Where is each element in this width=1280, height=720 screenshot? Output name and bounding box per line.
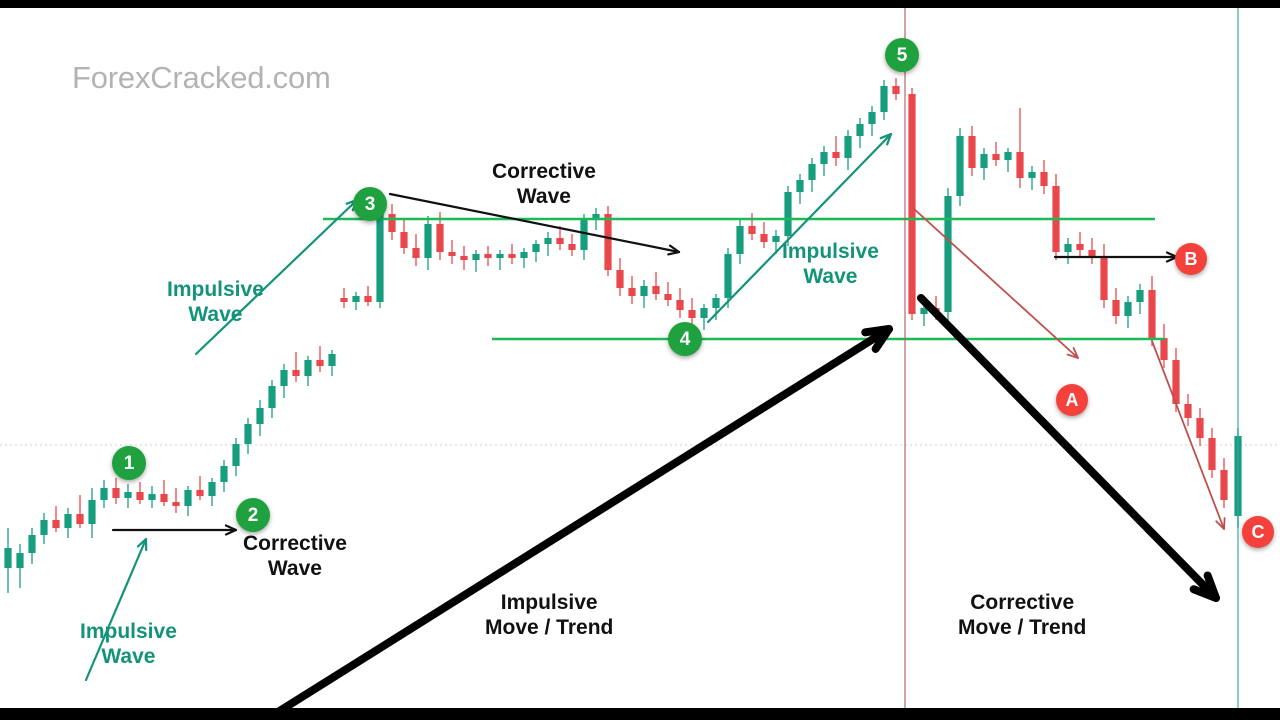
candle	[40, 513, 47, 544]
candle	[640, 280, 647, 308]
wave-c-arrow	[1152, 341, 1225, 529]
candle	[968, 126, 975, 176]
label-impulsive-move-trend: Impulsive Move / Trend	[485, 591, 613, 641]
candle	[328, 350, 335, 376]
candle	[1220, 458, 1227, 508]
candle	[856, 118, 863, 148]
candle	[760, 222, 767, 248]
candle	[908, 88, 915, 320]
candle	[544, 232, 551, 256]
candle	[520, 248, 527, 268]
candle	[1016, 108, 1023, 188]
candle	[604, 206, 611, 276]
candle	[1148, 276, 1155, 346]
candle	[956, 128, 963, 206]
wave-badge-5: 5	[885, 38, 919, 72]
candle	[568, 234, 575, 256]
wave-badge-1: 1	[112, 446, 146, 480]
wave-badge-4: 4	[668, 322, 702, 356]
candle	[700, 304, 707, 330]
candle	[1100, 244, 1107, 308]
candle	[88, 488, 95, 538]
candle	[1064, 238, 1071, 264]
candle	[892, 78, 899, 100]
candle	[1076, 232, 1083, 258]
candle	[376, 208, 383, 308]
candle	[16, 544, 23, 588]
candle	[1124, 296, 1131, 328]
corrective-trend-arrow	[921, 298, 1216, 598]
candle	[1052, 174, 1059, 260]
candle	[280, 364, 287, 398]
candle	[64, 508, 71, 538]
candle	[160, 480, 167, 506]
label-corrective-wave-1: Corrective Wave	[243, 532, 347, 582]
candle	[1004, 148, 1011, 172]
candle	[340, 288, 347, 308]
label-impulsive-wave-3: Impulsive Wave	[782, 240, 879, 290]
candle	[484, 246, 491, 266]
candle	[628, 276, 635, 304]
candle	[1196, 408, 1203, 446]
candle	[352, 292, 359, 310]
candle	[388, 204, 395, 240]
candlestick-series	[4, 78, 1241, 593]
corrective-arrow-1	[113, 526, 236, 535]
candle	[172, 488, 179, 513]
candle	[736, 220, 743, 264]
candle	[868, 106, 875, 136]
candle	[304, 356, 311, 386]
candle	[652, 272, 659, 300]
wave-badge-2: 2	[236, 498, 270, 532]
candle	[796, 174, 803, 204]
impulsive-arrow-2	[196, 200, 357, 354]
label-corrective-move-trend: Corrective Move / Trend	[958, 591, 1086, 641]
candle	[496, 250, 503, 270]
candle	[148, 486, 155, 508]
wave-badge-a: A	[1056, 384, 1088, 416]
label-corrective-wave-2: Corrective Wave	[492, 160, 596, 210]
candle	[136, 482, 143, 504]
candle	[808, 158, 815, 192]
chart-screenshot: ForexCracked.com Impulsive WaveCorrectiv…	[0, 0, 1280, 720]
candle	[1028, 166, 1035, 190]
candle	[880, 80, 887, 120]
impulsive-trend-arrow	[262, 329, 889, 708]
label-impulsive-wave-1: Impulsive Wave	[80, 620, 177, 670]
candle	[472, 250, 479, 272]
candle	[316, 346, 323, 372]
chart-svg-layer	[0, 8, 1280, 708]
candle	[292, 352, 299, 382]
candle	[244, 418, 251, 454]
candle	[508, 244, 515, 264]
candle	[980, 148, 987, 180]
candle	[1088, 238, 1095, 264]
candle	[220, 460, 227, 492]
candle	[196, 476, 203, 500]
candle	[748, 213, 755, 240]
candle	[832, 136, 839, 166]
label-impulsive-wave-2: Impulsive Wave	[167, 278, 264, 328]
candle	[1208, 428, 1215, 478]
candle	[1184, 394, 1191, 426]
wave-badge-b: B	[1175, 243, 1207, 275]
candle	[208, 478, 215, 506]
candle	[112, 478, 119, 504]
wave-badge-3: 3	[353, 187, 387, 221]
candle	[400, 218, 407, 254]
impulsive-arrow-3	[708, 134, 891, 322]
chart-canvas: ForexCracked.com Impulsive WaveCorrectiv…	[0, 8, 1280, 708]
candle	[4, 528, 11, 593]
wave-b-arrow	[1055, 253, 1177, 262]
candle	[76, 495, 83, 528]
candle	[460, 246, 467, 270]
candle	[232, 438, 239, 476]
candle	[184, 486, 191, 516]
candle	[580, 214, 587, 260]
candle	[52, 506, 59, 532]
candle	[944, 188, 951, 322]
candle	[820, 146, 827, 176]
price-level-lines	[323, 219, 1165, 339]
candle	[256, 400, 263, 436]
candle	[364, 286, 371, 306]
candle	[532, 240, 539, 262]
candle	[1112, 288, 1119, 324]
candle	[664, 282, 671, 306]
candle	[28, 528, 35, 564]
candle	[676, 288, 683, 318]
candle	[124, 484, 131, 508]
candle	[424, 216, 431, 270]
candle	[1040, 160, 1047, 194]
candle	[100, 480, 107, 508]
candle	[844, 130, 851, 170]
candle	[992, 142, 999, 166]
candle	[412, 234, 419, 266]
candle	[448, 240, 455, 264]
wave-badge-c: C	[1242, 516, 1274, 548]
candle	[268, 380, 275, 418]
candle	[1136, 284, 1143, 314]
candle	[1160, 324, 1167, 368]
candle	[616, 258, 623, 296]
